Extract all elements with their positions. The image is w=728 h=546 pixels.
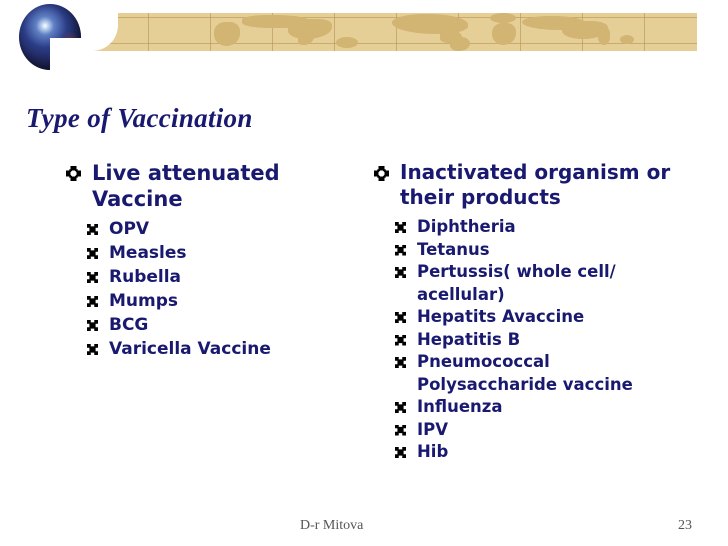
column-left-heading: Live attenuated Vaccine xyxy=(92,160,364,212)
list-item: Influenza xyxy=(389,396,692,419)
list-item: Rubella xyxy=(81,266,364,289)
list-item-label: IPV xyxy=(417,419,692,442)
notched-square-bullet-icon xyxy=(87,272,98,283)
column-inactivated: Inactivated organism or their products D… xyxy=(372,160,692,464)
list-item: Pneumococcal Polysaccharide vaccine xyxy=(389,351,692,396)
globe-corner-notch xyxy=(50,38,92,70)
list-item-label: Measles xyxy=(109,242,364,265)
notched-square-bullet-icon xyxy=(87,224,98,235)
world-map-band xyxy=(92,13,697,51)
notched-square-bullet-icon xyxy=(87,296,98,307)
notched-square-bullet-icon xyxy=(395,222,406,233)
column-right-items: Diphtheria Tetanus Pertussis( whole cell… xyxy=(389,216,692,464)
footer-author: D-r Mitova xyxy=(300,518,363,534)
bullet-item-level1: Inactivated organism or their products xyxy=(372,160,692,210)
list-item: Pertussis( whole cell/ acellular) xyxy=(389,261,692,306)
bullet-item-level1: Live attenuated Vaccine xyxy=(64,160,364,212)
landmass-islands xyxy=(620,35,634,44)
list-item: Diphtheria xyxy=(389,216,692,239)
column-left-items: OPV Measles Rubella Mumps BCG Varicella … xyxy=(81,218,364,361)
list-item: Tetanus xyxy=(389,239,692,262)
list-item: Varicella Vaccine xyxy=(81,338,364,361)
notched-square-bullet-icon xyxy=(395,357,406,368)
list-item: OPV xyxy=(81,218,364,241)
list-item-label: Hepatits Avaccine xyxy=(417,306,692,329)
list-item-label: Pertussis( whole cell/ acellular) xyxy=(417,261,692,306)
slide-canvas: { "slide": { "title": "Type of Vaccinati… xyxy=(0,0,728,546)
list-item: IPV xyxy=(389,419,692,442)
slide-title: Type of Vaccination xyxy=(26,103,253,134)
list-item: BCG xyxy=(81,314,364,337)
notched-square-bullet-icon xyxy=(87,344,98,355)
list-item-label: Mumps xyxy=(109,290,364,313)
list-item-label: Influenza xyxy=(417,396,692,419)
notched-square-bullet-icon xyxy=(395,447,406,458)
landmass-greenland xyxy=(490,13,516,23)
notched-square-bullet-icon xyxy=(395,402,406,413)
slide-body: Live attenuated Vaccine OPV Measles Rube… xyxy=(0,160,728,546)
list-item: Hepatits Avaccine xyxy=(389,306,692,329)
target-square-bullet-icon xyxy=(374,166,389,181)
list-item-label: Hepatitis B xyxy=(417,329,692,352)
column-live-attenuated: Live attenuated Vaccine OPV Measles Rube… xyxy=(64,160,364,362)
list-item: Mumps xyxy=(81,290,364,313)
page-number: 23 xyxy=(678,518,692,534)
notched-square-bullet-icon xyxy=(395,267,406,278)
notched-square-bullet-icon xyxy=(87,248,98,259)
list-item: Measles xyxy=(81,242,364,265)
list-item-label: OPV xyxy=(109,218,364,241)
list-item-label: Hib xyxy=(417,441,692,464)
target-square-bullet-icon xyxy=(66,166,81,181)
notched-square-bullet-icon xyxy=(395,425,406,436)
list-item-label: Pneumococcal Polysaccharide vaccine xyxy=(417,351,692,396)
landmass-australia xyxy=(336,37,358,48)
list-item-label: BCG xyxy=(109,314,364,337)
list-item-label: Rubella xyxy=(109,266,364,289)
list-item-label: Tetanus xyxy=(417,239,692,262)
list-item-label: Varicella Vaccine xyxy=(109,338,364,361)
list-item-label: Diphtheria xyxy=(417,216,692,239)
notched-square-bullet-icon xyxy=(395,335,406,346)
column-right-heading: Inactivated organism or their products xyxy=(400,160,692,210)
notched-square-bullet-icon xyxy=(395,312,406,323)
landmass-japan xyxy=(598,27,610,45)
list-item: Hepatitis B xyxy=(389,329,692,352)
list-item: Hib xyxy=(389,441,692,464)
notched-square-bullet-icon xyxy=(87,320,98,331)
notched-square-bullet-icon xyxy=(395,245,406,256)
